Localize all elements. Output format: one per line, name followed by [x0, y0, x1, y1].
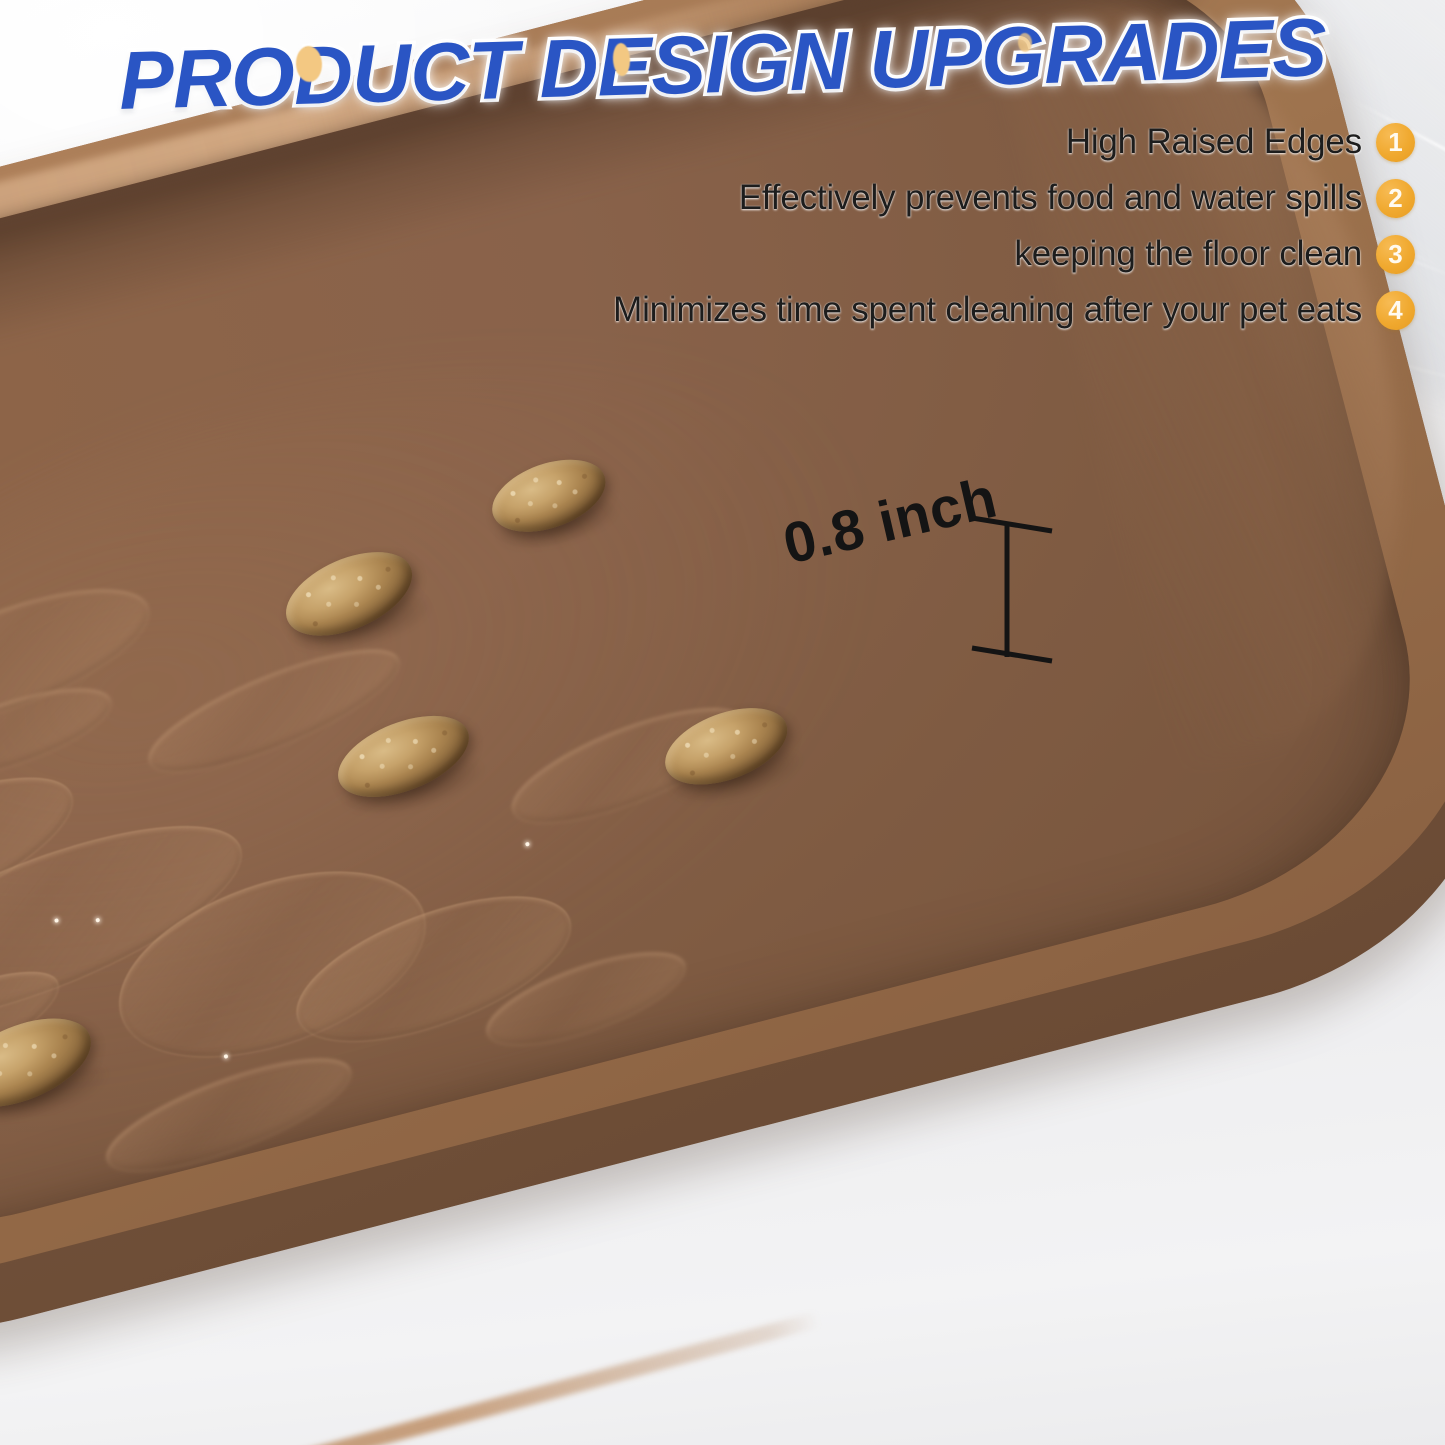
product-feature-image: PRODUCT DESIGN UPGRADES High Raised Edge… [0, 0, 1445, 1445]
number-badge-icon: 2 [1376, 179, 1415, 218]
feature-item-2: Effectively prevents food and water spil… [415, 176, 1415, 220]
feature-list: High Raised Edges 1 Effectively prevents… [415, 120, 1415, 344]
number-badge-icon: 4 [1376, 291, 1415, 330]
feature-label: Effectively prevents food and water spil… [739, 178, 1362, 218]
feature-label: Minimizes time spent cleaning after your… [613, 290, 1362, 330]
feature-item-1: High Raised Edges 1 [415, 120, 1415, 164]
feature-item-4: Minimizes time spent cleaning after your… [415, 288, 1415, 332]
i-beam-measure-icon [960, 500, 1070, 680]
feature-item-3: keeping the floor clean 3 [415, 232, 1415, 276]
number-badge-icon: 1 [1376, 123, 1415, 162]
tray-rim-edge-highlight [0, 1311, 821, 1445]
number-badge-icon: 3 [1376, 235, 1415, 274]
feature-label: High Raised Edges [1066, 122, 1362, 162]
feature-label: keeping the floor clean [1014, 234, 1362, 274]
